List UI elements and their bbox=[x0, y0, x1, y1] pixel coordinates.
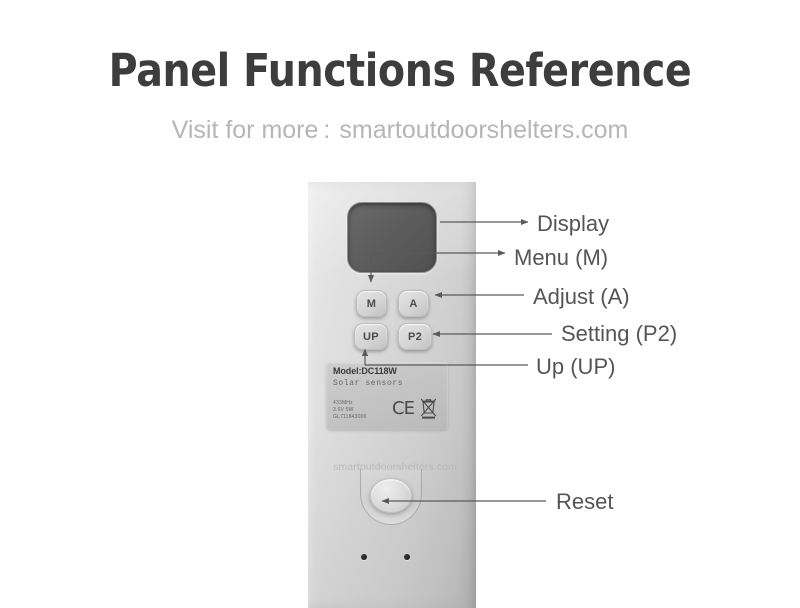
callout-label-menu: Menu (M) bbox=[514, 245, 608, 271]
screw-hole-left bbox=[361, 554, 367, 560]
spec-power-text: 3.6V 5W bbox=[333, 407, 367, 414]
control-panel-device: M A UP P2 Model:DC118W Solar sensors 433… bbox=[308, 182, 476, 608]
page-subtitle: Visit for more :smartoutdoorshelters.com bbox=[0, 115, 800, 145]
button-m-label: M bbox=[367, 298, 376, 310]
spec-subtitle-text: Solar sensors bbox=[333, 379, 403, 388]
button-up-label: UP bbox=[363, 331, 379, 343]
callout-label-up: Up (UP) bbox=[536, 354, 615, 380]
slide-canvas: Panel Functions Reference Visit for more… bbox=[0, 0, 800, 608]
callout-label-reset: Reset bbox=[556, 489, 613, 515]
screw-hole-right bbox=[404, 554, 410, 560]
button-p2[interactable]: P2 bbox=[398, 323, 432, 350]
display-screen bbox=[347, 202, 437, 273]
callout-label-display: Display bbox=[537, 211, 609, 237]
button-m[interactable]: M bbox=[356, 290, 387, 317]
button-a-label: A bbox=[409, 298, 417, 310]
callout-label-setting: Setting (P2) bbox=[561, 321, 677, 347]
button-p2-label: P2 bbox=[408, 331, 422, 343]
reset-button[interactable] bbox=[370, 478, 412, 513]
specification-label: Model:DC118W Solar sensors 433MHz 3.6V 5… bbox=[326, 362, 448, 430]
spec-model-text: Model:DC118W bbox=[333, 366, 397, 376]
ce-mark-icon: CE bbox=[392, 400, 414, 418]
spec-frequency-text: 433MHz bbox=[333, 400, 367, 407]
spec-details-block: 433MHz 3.6V 5W GL711843000 bbox=[333, 400, 367, 421]
page-title: Panel Functions Reference bbox=[48, 45, 752, 97]
spec-serial-text: GL711843000 bbox=[333, 414, 367, 421]
button-up[interactable]: UP bbox=[354, 323, 388, 350]
crossed-out-wheelie-bin-icon bbox=[420, 398, 437, 419]
button-a[interactable]: A bbox=[398, 290, 429, 317]
callout-label-adjust: Adjust (A) bbox=[533, 284, 630, 310]
subtitle-lead-text: Visit for more : bbox=[172, 116, 331, 144]
subtitle-website-text: smartoutdoorshelters.com bbox=[339, 116, 628, 144]
